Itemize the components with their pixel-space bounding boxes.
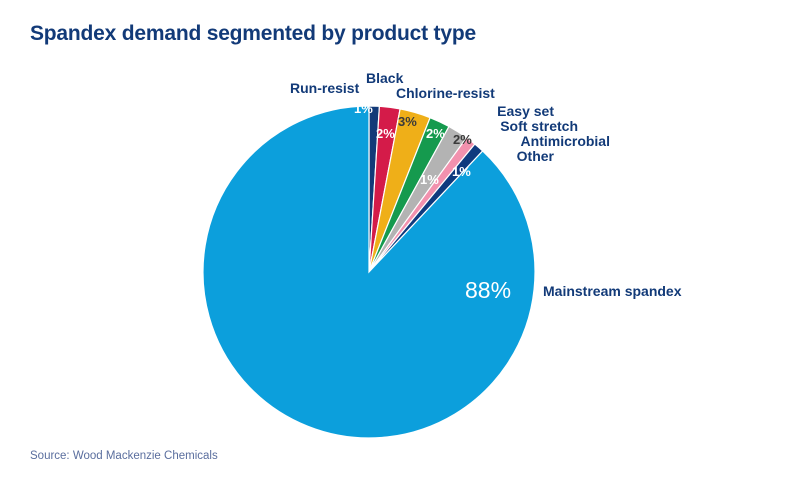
slice-label-chlorine-resist: Chlorine-resist xyxy=(396,85,495,101)
slice-value-mainstream-spandex: 88% xyxy=(465,277,511,304)
slice-label-other: Other xyxy=(320,148,554,164)
source-note: Source: Wood Mackenzie Chemicals xyxy=(30,450,218,462)
chart-canvas: Spandex demand segmented by product type… xyxy=(0,0,800,480)
slice-label-soft-stretch: Soft stretch xyxy=(320,118,578,134)
slice-label-black: Black xyxy=(366,70,403,86)
slice-label-mainstream-spandex: Mainstream spandex xyxy=(543,283,682,299)
slice-value-run-resist: 1% xyxy=(354,101,373,116)
slice-value-black: 2% xyxy=(376,126,395,141)
slice-value-chlorine-resist: 3% xyxy=(398,114,417,129)
slice-label-run-resist: Run-resist xyxy=(290,80,359,96)
slice-value-soft-stretch: 2% xyxy=(453,132,472,147)
slice-value-easy-set: 2% xyxy=(426,126,445,141)
slice-value-antimicrobial: 1% xyxy=(420,172,439,187)
slice-value-other: 1% xyxy=(452,164,471,179)
